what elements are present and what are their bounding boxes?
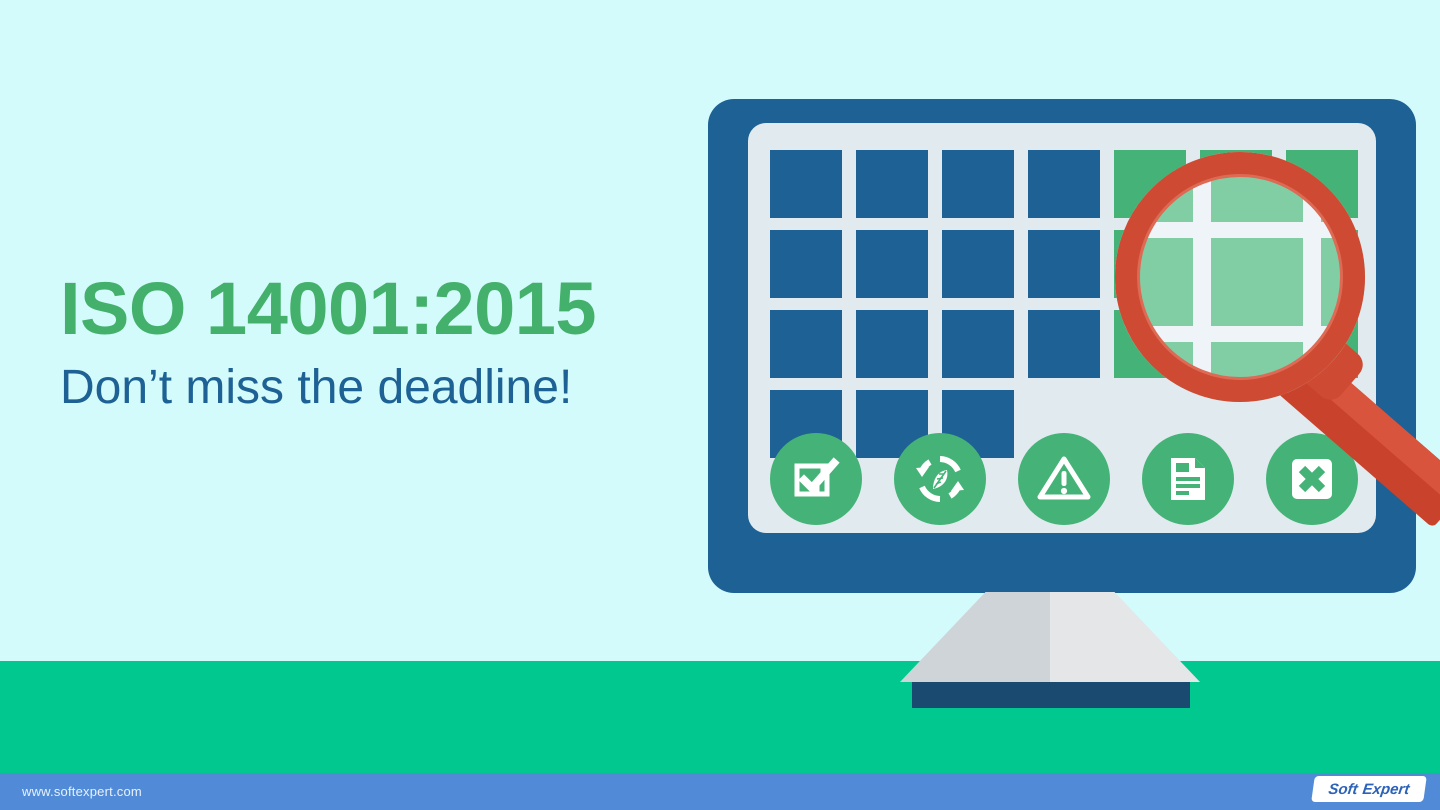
grid-cell [856, 150, 928, 218]
page-subtitle: Don’t miss the deadline! [60, 364, 720, 412]
grid-cell [942, 310, 1014, 378]
warning-triangle-icon[interactable] [1018, 433, 1110, 525]
grid-cell [942, 230, 1014, 298]
grid-cell [1028, 310, 1100, 378]
promo-banner: ISO 14001:2015 Don’t miss the deadline! [0, 0, 1440, 810]
checkbox-check-icon[interactable] [770, 433, 862, 525]
page-title: ISO 14001:2015 [60, 272, 720, 346]
monitor-screen [748, 123, 1376, 533]
grid-cell [856, 310, 928, 378]
grid-cell [1028, 150, 1100, 218]
logo-word-soft: Soft [1328, 782, 1359, 797]
status-icon-row [770, 433, 1358, 525]
logo-word-expert: Expert [1362, 782, 1411, 797]
data-cell-grid [770, 150, 1358, 458]
grid-cell [1286, 230, 1358, 298]
background-green-band [0, 661, 1440, 773]
monitor-stand-left-face [900, 592, 1050, 682]
headline-block: ISO 14001:2015 Don’t miss the deadline! [60, 272, 720, 412]
grid-cell [1200, 310, 1272, 378]
grid-cell [1114, 230, 1186, 298]
grid-cell [770, 230, 842, 298]
monitor-stand [900, 592, 1200, 682]
recycle-leaf-icon[interactable] [894, 433, 986, 525]
grid-cell [1286, 150, 1358, 218]
grid-cell [942, 150, 1014, 218]
grid-cell [770, 150, 842, 218]
cancel-x-icon[interactable] [1266, 433, 1358, 525]
grid-cell [1114, 150, 1186, 218]
grid-cell [1200, 230, 1272, 298]
grid-cell [856, 230, 928, 298]
grid-cell [770, 310, 842, 378]
softexpert-logo[interactable]: Soft Expert [1311, 776, 1427, 802]
grid-cell [1200, 150, 1272, 218]
footer-bar [0, 773, 1440, 810]
footer-website-url[interactable]: www.softexpert.com [22, 784, 142, 799]
grid-cell [1028, 230, 1100, 298]
grid-cell [1114, 310, 1186, 378]
monitor-stand-right-face [1050, 592, 1200, 682]
monitor-stand-base [912, 682, 1190, 708]
monitor-bezel [708, 99, 1416, 593]
document-icon[interactable] [1142, 433, 1234, 525]
grid-cell [1286, 310, 1358, 378]
